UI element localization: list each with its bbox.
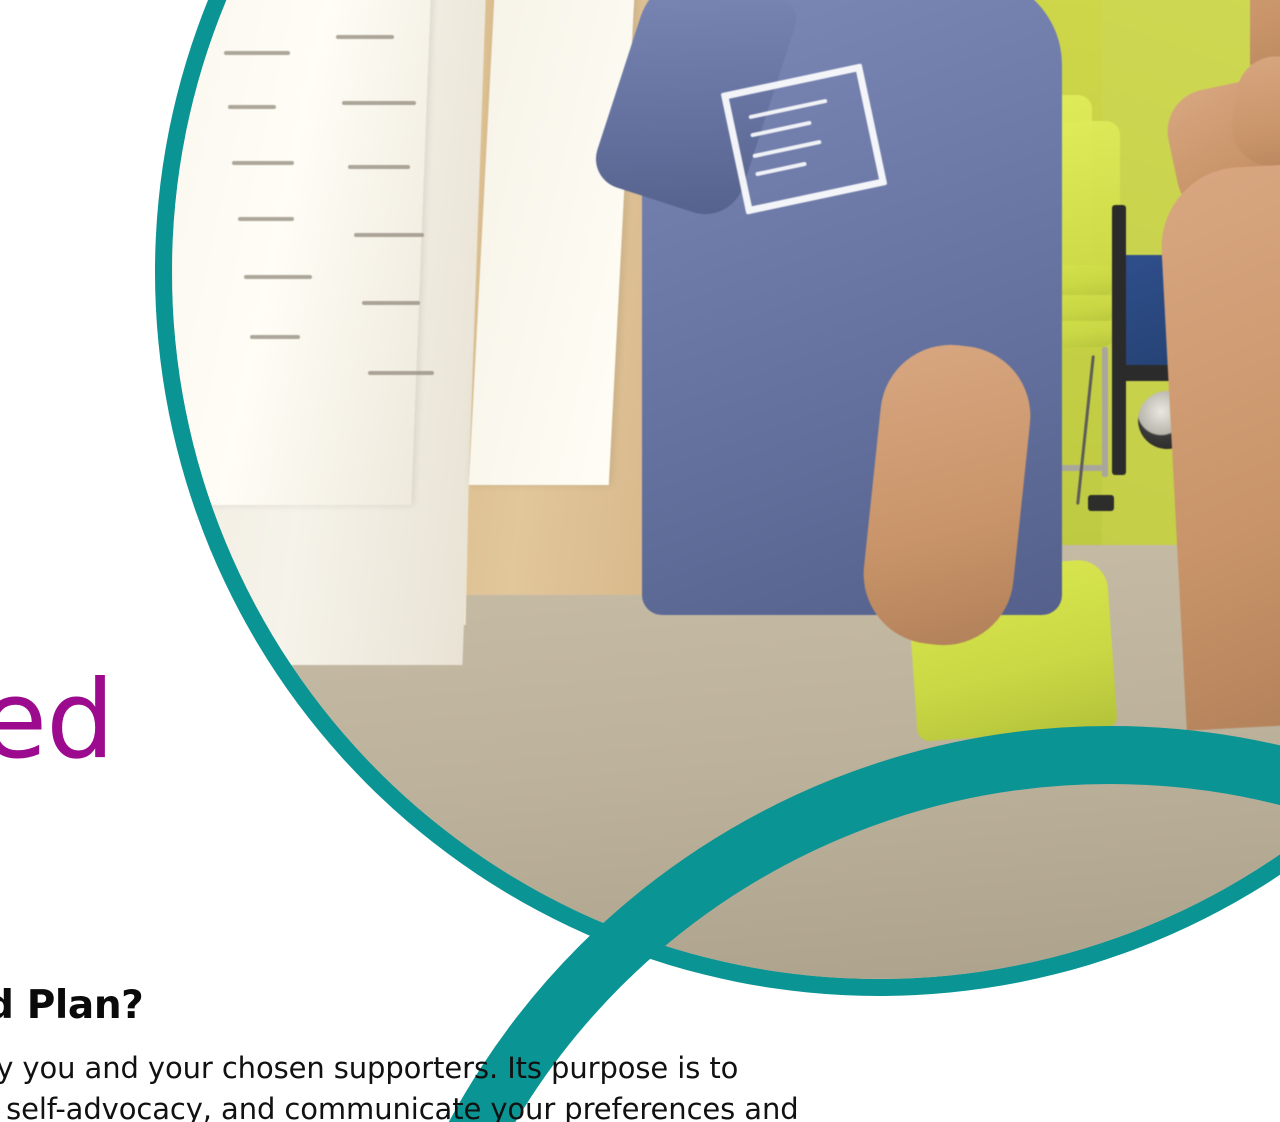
hero-photo: A: [172, 0, 1280, 979]
handwriting-mark: [232, 161, 294, 165]
handwriting-mark: [348, 165, 410, 169]
body-line-1: g document created by you and your chose…: [0, 1051, 738, 1085]
chair-leg: [1102, 347, 1108, 477]
power-plug: [1088, 495, 1114, 511]
handwriting-mark: [244, 275, 312, 279]
page-display-title: ed,entered: [0, 556, 480, 776]
handwriting-mark: [362, 301, 420, 305]
brochure-page: A ed,entered erson-Centered Plan? g docu…: [0, 0, 1280, 1122]
handwriting-mark: [336, 35, 394, 39]
classroom-scene: A: [172, 0, 1280, 979]
handwriting-mark: [224, 51, 290, 55]
handwriting-mark: [368, 371, 434, 375]
cart-frame: [1112, 205, 1126, 475]
section-body-text: g document created by you and your chose…: [0, 1048, 1280, 1122]
handwriting-mark: [238, 217, 294, 221]
chart-paper-left: [172, 0, 449, 505]
display-title-line-2: entered: [0, 658, 114, 783]
handwriting-mark: [342, 101, 416, 105]
section-heading: erson-Centered Plan?: [0, 983, 143, 1028]
handwriting-mark: [250, 335, 300, 339]
hero-photo-circle: A: [155, 0, 1280, 996]
handwriting-mark: [228, 105, 276, 109]
body-line-2: etermination, practice self-advocacy, an…: [0, 1092, 799, 1122]
handwriting-mark: [354, 233, 424, 237]
